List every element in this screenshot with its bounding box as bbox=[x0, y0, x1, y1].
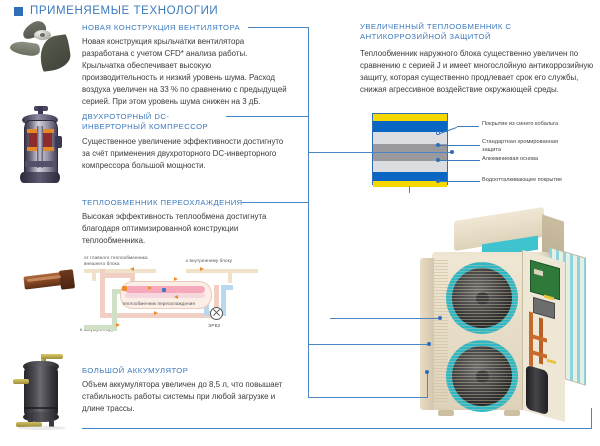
fan-propeller-icon bbox=[8, 18, 80, 80]
leader-compressor-endpoint bbox=[425, 370, 429, 374]
callout-label-1: Покрытие из синего кобальта bbox=[482, 121, 592, 129]
leader-accum-v bbox=[591, 408, 592, 429]
leader-fan2-h bbox=[330, 318, 440, 319]
page-title-text: ПРИМЕНЯЕМЫЕ ТЕХНОЛОГИИ bbox=[30, 5, 218, 17]
layer-light-gray-2 bbox=[373, 161, 447, 172]
section-body-subcooling: Высокая эффективность теплообмена достиг… bbox=[82, 211, 288, 247]
unit-foot-left bbox=[438, 410, 454, 416]
subcooling-circuit-diagram: от главного теплообменника внешнего блок… bbox=[78, 255, 268, 340]
section-body-heatexchanger: Теплообменник наружного блока существенн… bbox=[360, 48, 596, 96]
callout-label-4: Водоотталкивающее покрытие bbox=[482, 177, 594, 185]
expansion-valve-icon bbox=[210, 307, 223, 320]
unit-fan-bottom-grill bbox=[446, 340, 518, 412]
bullet-square-icon bbox=[14, 7, 23, 16]
section-heading-compressor: ДВУХРОТОРНЫЙ DC-ИНВЕРТОРНЫЙ КОМПРЕССОР bbox=[82, 112, 232, 133]
callout-line-4 bbox=[440, 181, 480, 182]
leader-compressor-v2 bbox=[427, 372, 428, 398]
section-heading-heatexchanger: УВЕЛИЧЕННЫЙ ТЕПЛООБМЕННИК С АНТИКОРРОЗИЙ… bbox=[360, 22, 592, 43]
heading-rule-compressor bbox=[226, 116, 308, 117]
section-heading-fan: НОВАЯ КОНСТРУКЦИЯ ВЕНТИЛЯТОРА bbox=[82, 23, 272, 33]
section-heading-accumulator: БОЛЬШОЙ АККУМУЛЯТОР bbox=[82, 366, 242, 376]
callout-label-2: Стандартная хромированная защита bbox=[482, 139, 594, 154]
leader-compressor-h bbox=[308, 397, 428, 398]
heading-rule-subcooling bbox=[242, 202, 308, 203]
section-body-compressor: Существенное увеличение эффективности до… bbox=[82, 136, 288, 172]
compressor-icon bbox=[8, 106, 74, 190]
layer-stack-icon bbox=[372, 113, 448, 185]
section-body-fan: Новая конструкция крыльчатки вентилятора… bbox=[82, 36, 288, 108]
unit-accumulator-tank bbox=[526, 365, 548, 415]
leader-subcooling-h bbox=[308, 344, 429, 345]
copper-tube-icon bbox=[8, 252, 80, 300]
callout-line-3 bbox=[440, 160, 480, 161]
leader-fan-h bbox=[308, 152, 452, 153]
circuit-label-to-indoor: к внутреннему блоку bbox=[186, 258, 258, 264]
accumulator-icon bbox=[8, 352, 74, 434]
circuit-label-from-main: от главного теплообменника внешнего блок… bbox=[84, 255, 158, 267]
leader-fan2-endpoint bbox=[438, 316, 442, 320]
page-title: ПРИМЕНЯЕМЫЕ ТЕХНОЛОГИИ bbox=[14, 5, 218, 17]
unit-foot-right bbox=[504, 410, 520, 416]
circuit-label-valve: ЭРВ2 bbox=[208, 323, 238, 329]
leader-subcooling-v bbox=[308, 202, 309, 345]
unit-fan-top-grill bbox=[446, 262, 518, 334]
callout-line-1b bbox=[457, 126, 479, 127]
callout-line-2 bbox=[440, 145, 480, 146]
section-body-accumulator: Объем аккумулятора увеличен до 8,5 л, чт… bbox=[82, 379, 288, 415]
leader-subcooling-endpoint bbox=[427, 342, 431, 346]
circuit-label-vessel: теплообменник переохлаждения bbox=[122, 301, 222, 307]
layer-top-yellow bbox=[373, 114, 447, 121]
unit-copper-pipe-1 bbox=[529, 311, 533, 366]
stack-tick bbox=[409, 186, 410, 193]
leader-fan-endpoint bbox=[450, 150, 454, 154]
outdoor-unit-illustration bbox=[408, 200, 598, 440]
heading-rule-fan bbox=[248, 27, 308, 28]
callout-label-3: Алюминиевая основа bbox=[482, 156, 592, 164]
section-heading-subcooling: ТЕПЛООБМЕННИК ПЕРЕОХЛАЖДЕНИЯ bbox=[82, 198, 252, 208]
leader-accum-h bbox=[82, 428, 592, 429]
